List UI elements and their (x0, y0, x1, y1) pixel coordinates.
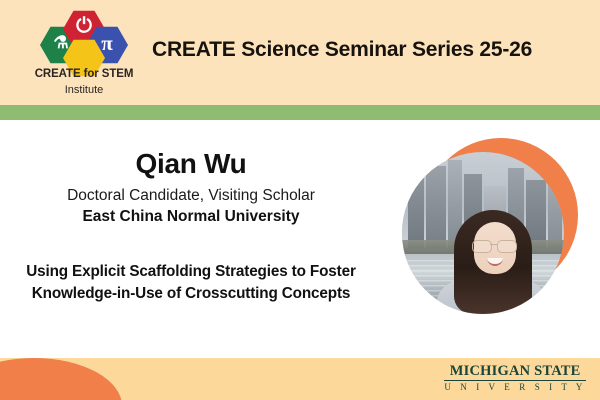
speaker-portrait (402, 152, 564, 314)
portrait-glasses-bridge (490, 244, 497, 245)
talk-title-line-1: Using Explicit Scaffolding Strategies to… (0, 261, 382, 283)
speaker-photo-group (402, 138, 578, 314)
portrait-lens-right (497, 240, 517, 253)
msu-wordmark-top: MICHIGAN STATE (444, 364, 586, 381)
portrait-building (548, 172, 562, 248)
portrait-building (408, 178, 424, 248)
talk-title: Using Explicit Scaffolding Strategies to… (0, 261, 382, 304)
logo-hexagon-cluster: ⚗ ⏻ π ⚙ (28, 6, 140, 68)
speaker-affiliation: East China Normal University (8, 207, 374, 226)
create-for-stem-logo: ⚗ ⏻ π ⚙ CREATE for STEM Institute (28, 6, 140, 100)
orange-footer-blob (0, 358, 122, 400)
michigan-state-logo: MICHIGAN STATE U N I V E R S I T Y (444, 364, 586, 392)
portrait-glasses (472, 240, 519, 251)
gear-icon: ⚙ (64, 43, 104, 64)
portrait-building (426, 166, 446, 248)
series-title: CREATE Science Seminar Series 25-26 (152, 38, 590, 62)
speaker-role: Doctoral Candidate, Visiting Scholar (8, 186, 374, 205)
msu-wordmark-bottom: U N I V E R S I T Y (444, 383, 586, 392)
portrait-lens-left (472, 240, 492, 253)
talk-title-line-2: Knowledge-in-Use of Crosscutting Concept… (0, 283, 382, 305)
speaker-info-block: Qian Wu Doctoral Candidate, Visiting Sch… (8, 148, 374, 226)
speaker-name: Qian Wu (8, 148, 374, 180)
logo-subtitle-text: Institute (28, 84, 140, 96)
green-divider-rule (0, 105, 600, 120)
seminar-flyer-slide: ⚗ ⏻ π ⚙ CREATE for STEM Institute CREATE… (0, 0, 600, 400)
logo-title-text: CREATE for STEM (28, 68, 140, 80)
